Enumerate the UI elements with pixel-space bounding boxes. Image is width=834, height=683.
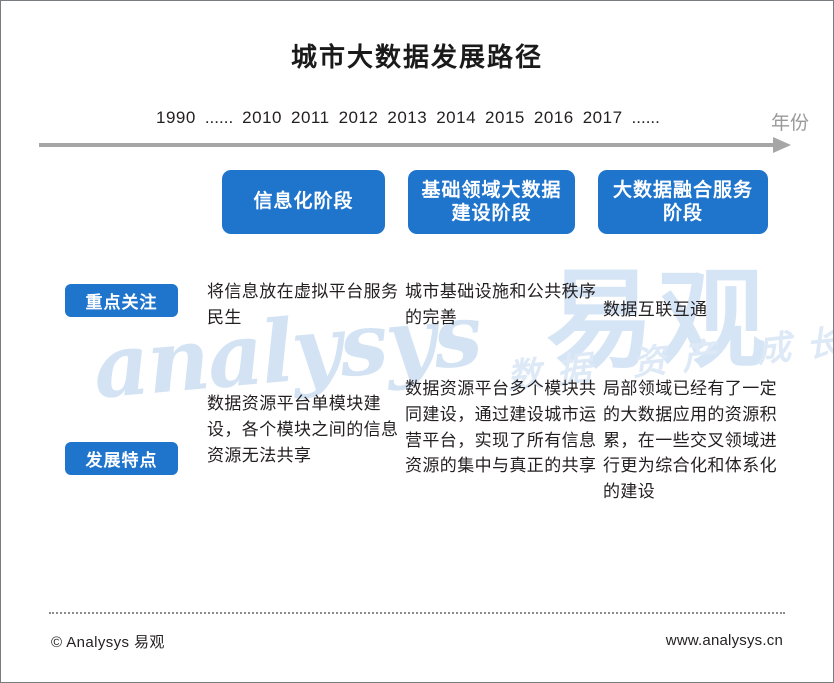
cell-focus-stage2: 城市基础设施和公共秩序的完善 (405, 279, 601, 331)
timeline-arrow-shaft (39, 143, 774, 147)
stage-label: 大数据融合服务阶段 (604, 179, 762, 225)
timeline-ellipsis: ...... (632, 108, 660, 127)
timeline-arrow-head (773, 137, 791, 153)
timeline-year: 2013 (387, 108, 427, 127)
timeline-year: 2011 (291, 108, 330, 127)
timeline-year: 1990 (156, 108, 196, 127)
stage-box-2[interactable]: 基础领域大数据建设阶段 (408, 170, 575, 234)
cell-characteristics-stage1: 数据资源平台单模块建设，各个模块之间的信息资源无法共享 (207, 391, 403, 468)
cell-characteristics-stage3: 局部领域已经有了一定的大数据应用的资源积累，在一些交叉领域进行更为综合化和体系化… (603, 376, 793, 505)
stage-box-1[interactable]: 信息化阶段 (222, 170, 385, 234)
cell-focus-stage3: 数据互联互通 (603, 297, 793, 323)
footer-copyright: © Analysys 易观 (51, 631, 165, 652)
timeline-year: 2017 (583, 108, 623, 127)
row-label-focus[interactable]: 重点关注 (65, 284, 178, 317)
timeline-year: 2016 (534, 108, 574, 127)
axis-label: 年份 (771, 108, 809, 135)
slide-canvas: analysys 易观 数据 资产 成长 城市大数据发展路径 1990.....… (0, 0, 834, 683)
page-title: 城市大数据发展路径 (1, 37, 833, 74)
timeline-year: 2010 (242, 108, 282, 127)
cell-focus-stage1: 将信息放在虚拟平台服务民生 (207, 279, 403, 331)
row-label-characteristics[interactable]: 发展特点 (65, 442, 178, 475)
timeline-years: 1990......201020112012201320142015201620… (156, 108, 669, 128)
row-label-text: 发展特点 (86, 446, 158, 471)
timeline-year: 2012 (339, 108, 379, 127)
timeline-year: 2015 (485, 108, 525, 127)
stage-label: 信息化阶段 (253, 190, 353, 213)
cell-characteristics-stage2: 数据资源平台多个模块共同建设，通过建设城市运营平台，实现了所有信息资源的集中与真… (405, 376, 601, 479)
timeline-ellipsis: ...... (205, 108, 233, 127)
timeline-arrow-icon (39, 142, 791, 148)
footer-divider (49, 612, 785, 614)
stage-label: 基础领域大数据建设阶段 (414, 179, 569, 225)
timeline-year: 2014 (436, 108, 476, 127)
footer-url[interactable]: www.analysys.cn (666, 632, 783, 649)
row-label-text: 重点关注 (86, 288, 158, 313)
stage-box-3[interactable]: 大数据融合服务阶段 (598, 170, 768, 234)
